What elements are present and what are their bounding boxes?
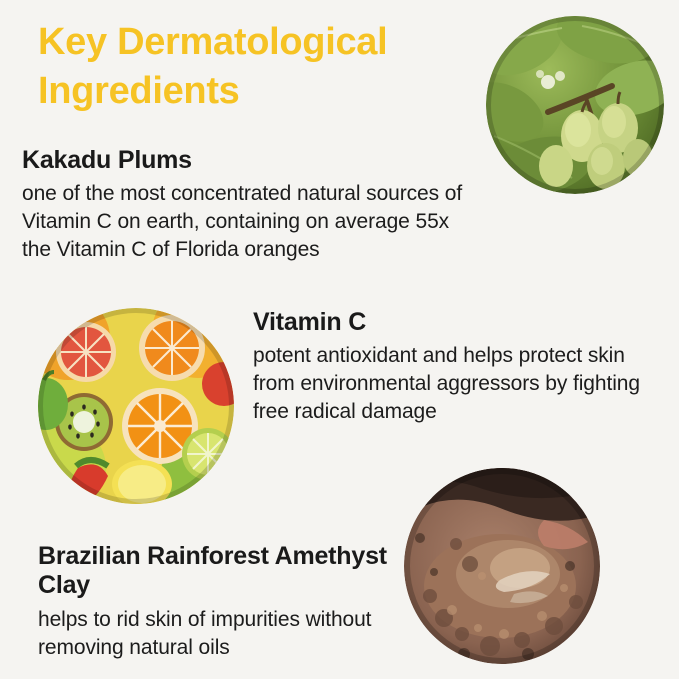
section-title-amethyst-clay: Brazilian Rainforest Amethyst Clay [38,542,398,600]
section-amethyst-clay: Brazilian Rainforest Amethyst Clay helps… [38,542,398,662]
page-title: Key Dermatological Ingredients [38,18,508,116]
section-body-kakadu-plums: one of the most concentrated natural sou… [22,180,482,264]
section-title-kakadu-plums: Kakadu Plums [22,146,482,175]
ingredients-infographic: Key Dermatological Ingredients [0,0,679,679]
section-body-amethyst-clay: helps to rid skin of impurities without … [38,606,398,662]
section-vitamin-c: Vitamin C potent antioxidant and helps p… [253,308,653,426]
section-title-vitamin-c: Vitamin C [253,308,653,337]
section-body-vitamin-c: potent antioxidant and helps protect ski… [253,342,653,426]
amethyst-clay-image [404,468,600,664]
kakadu-plums-image [486,16,664,194]
section-kakadu-plums: Kakadu Plums one of the most concentrate… [22,146,482,264]
citrus-fruits-image [38,308,234,504]
